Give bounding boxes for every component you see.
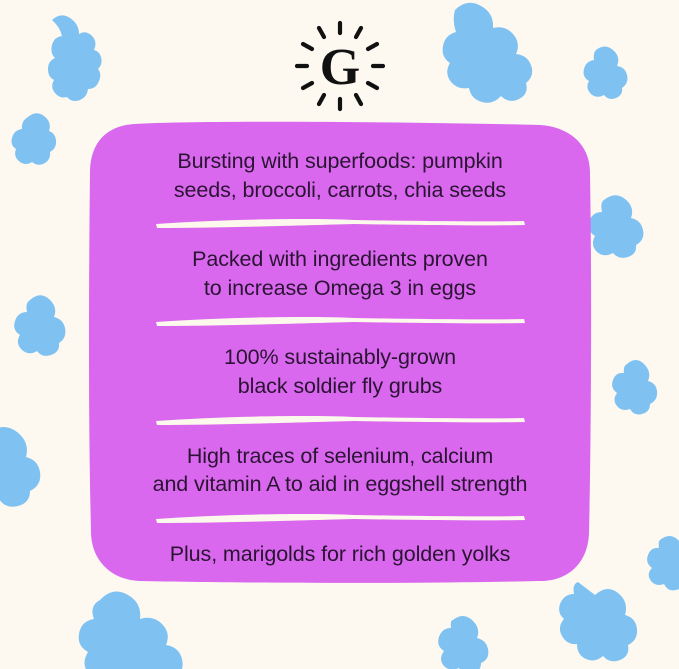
- hand-drawn-divider-line: [154, 217, 526, 231]
- blob-right-mid: [612, 360, 657, 414]
- blob-left-lower: [0, 427, 40, 507]
- blob-bottom-center: [438, 616, 488, 669]
- feature-item-2: Packed with ingredients proven to increa…: [105, 245, 575, 302]
- feature-item-5: Plus, marigolds for rich golden yolks: [105, 540, 575, 569]
- sun-g-logo-icon: G: [292, 18, 388, 114]
- logo-letter: G: [320, 39, 360, 96]
- features-card: Bursting with superfoods: pumpkin seeds,…: [88, 121, 592, 584]
- blob-top-right-small: [584, 47, 628, 100]
- product-feature-graphic: G Bursting with superfoods: pumpkin seed…: [0, 0, 679, 669]
- blob-bottom-left: [79, 591, 183, 669]
- hand-drawn-divider-line: [154, 315, 526, 329]
- blob-bottom-right-edge: [647, 536, 679, 590]
- blob-left-mid: [14, 295, 65, 356]
- hand-drawn-divider-line: [154, 512, 526, 526]
- blob-top-left-small: [12, 113, 57, 165]
- hand-drawn-divider-line: [154, 414, 526, 428]
- blob-top-left: [48, 15, 102, 101]
- feature-item-4: High traces of selenium, calcium and vit…: [105, 442, 575, 499]
- feature-item-3: 100% sustainably-grown black soldier fly…: [105, 343, 575, 400]
- feature-item-1: Bursting with superfoods: pumpkin seeds,…: [105, 147, 575, 204]
- blob-top-right: [443, 3, 533, 103]
- blob-right-upper: [589, 195, 644, 258]
- features-list: Bursting with superfoods: pumpkin seeds,…: [88, 121, 592, 584]
- blob-bottom-right: [559, 582, 637, 661]
